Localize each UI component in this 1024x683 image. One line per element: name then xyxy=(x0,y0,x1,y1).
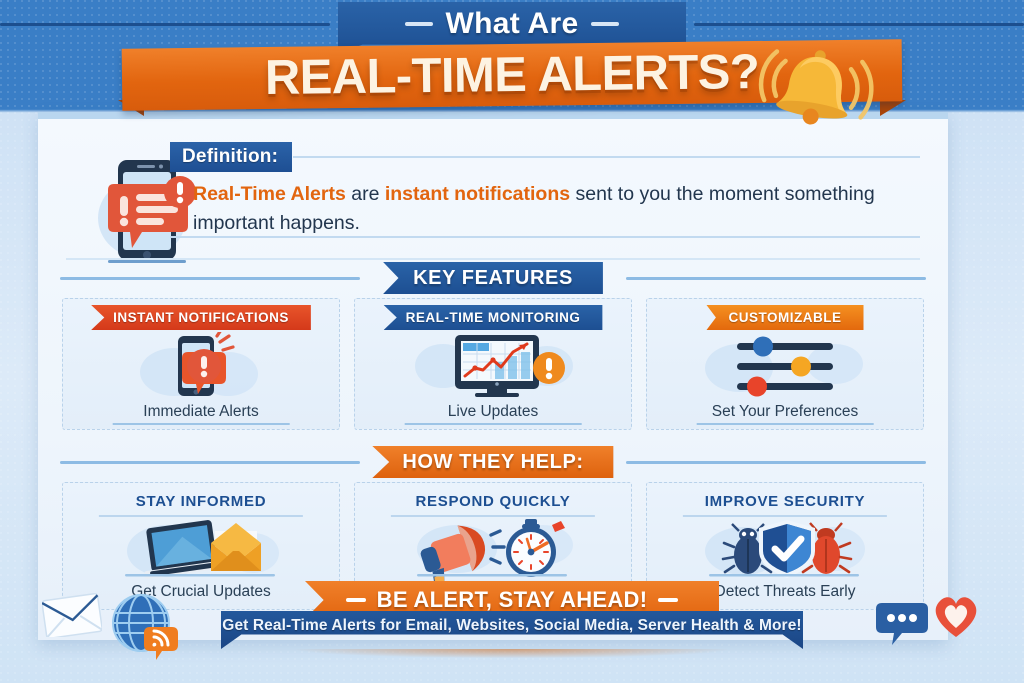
monitor-chart-alert-illustration xyxy=(355,331,631,401)
help-card-title: RESPOND QUICKLY xyxy=(355,493,631,510)
key-features-ribbon: KEY FEATURES xyxy=(383,262,603,294)
content-panel: Definition: Real-Time Alerts are instant… xyxy=(38,112,948,640)
card-ribbon-label: INSTANT NOTIFICATIONS xyxy=(113,310,289,325)
key-features-label: KEY FEATURES xyxy=(413,267,573,290)
header-rule-left xyxy=(0,23,330,26)
dash-left-icon xyxy=(405,22,433,26)
card-ribbon: REAL-TIME MONITORING xyxy=(384,305,603,330)
key-feature-card-customizable[interactable]: CUSTOMIZABLE Set Your Preferen xyxy=(646,298,924,430)
definition-mid-1: are xyxy=(346,183,385,205)
definition-highlight-2: instant notifications xyxy=(385,183,570,205)
help-card-title: STAY INFORMED xyxy=(63,493,339,510)
help-card-title: IMPROVE SECURITY xyxy=(647,493,923,510)
help-card-underline xyxy=(683,515,887,517)
footer: BE ALERT, STAY AHEAD! Get Real-Time Aler… xyxy=(0,573,1024,683)
heart-icon xyxy=(930,591,982,639)
key-features-rule-right xyxy=(626,277,926,280)
help-card-underline xyxy=(99,515,303,517)
key-feature-card-instant-notifications[interactable]: INSTANT NOTIFICATIONS xyxy=(62,298,340,430)
cta-dash-right-icon xyxy=(658,598,678,602)
key-features-rule-left xyxy=(60,277,360,280)
card-ribbon: CUSTOMIZABLE xyxy=(707,305,864,330)
header-rule-right xyxy=(694,23,1024,26)
card-ribbon-label: REAL-TIME MONITORING xyxy=(406,310,581,325)
footer-subtitle-text: Get Real-Time Alerts for Email, Websites… xyxy=(222,617,801,635)
how-they-help-heading: HOW THEY HELP: xyxy=(38,446,948,478)
definition-rule-top xyxy=(293,156,920,158)
footer-ribbon-shadow xyxy=(297,649,727,658)
card-caption: Immediate Alerts xyxy=(63,403,339,421)
card-ground-line xyxy=(697,423,874,425)
how-they-help-rule-left xyxy=(60,461,360,464)
key-feature-card-real-time-monitoring[interactable]: REAL-TIME MONITORING xyxy=(354,298,632,430)
definition-rule-bottom xyxy=(66,258,920,260)
card-ground-line xyxy=(405,423,582,425)
laptop-envelope-illustration xyxy=(63,519,339,581)
card-ribbon: INSTANT NOTIFICATIONS xyxy=(91,305,311,330)
settings-sliders-illustration xyxy=(647,331,923,401)
definition-tab-label: Definition: xyxy=(182,146,278,168)
how-they-help-ribbon: HOW THEY HELP: xyxy=(372,446,613,478)
envelope-icon xyxy=(42,593,102,637)
card-ribbon-label: CUSTOMIZABLE xyxy=(729,310,842,325)
key-features-heading: KEY FEATURES xyxy=(38,262,948,294)
footer-subtitle-ribbon: Get Real-Time Alerts for Email, Websites… xyxy=(221,611,803,649)
definition-text: Real-Time Alerts are instant notificatio… xyxy=(193,180,908,238)
header-eyebrow-text: What Are xyxy=(446,7,579,41)
megaphone-stopwatch-illustration xyxy=(355,519,631,581)
card-caption: Live Updates xyxy=(355,403,631,421)
bell-icon xyxy=(750,31,883,141)
help-card-underline xyxy=(391,515,595,517)
header: What Are REAL-TIME ALERTS? xyxy=(0,0,1024,120)
page-title: REAL-TIME ALERTS? xyxy=(265,44,760,106)
footer-cta-text: BE ALERT, STAY AHEAD! xyxy=(377,587,648,613)
infographic-poster: What Are REAL-TIME ALERTS? xyxy=(0,0,1024,683)
shield-bugs-illustration xyxy=(647,519,923,581)
how-they-help-label: HOW THEY HELP: xyxy=(402,451,583,474)
globe-rss-icon xyxy=(108,589,180,661)
definition-tab: Definition: xyxy=(170,142,292,172)
card-caption: Set Your Preferences xyxy=(647,403,923,421)
cta-dash-left-icon xyxy=(346,598,366,602)
definition-highlight-1: Real-Time Alerts xyxy=(193,183,346,205)
chat-bubble-icon xyxy=(876,601,932,647)
phone-notification-illustration xyxy=(96,156,206,271)
key-features-cards: INSTANT NOTIFICATIONS xyxy=(62,298,924,430)
ribbon-tail-right xyxy=(880,100,906,116)
dash-right-icon xyxy=(591,22,619,26)
definition-section: Definition: Real-Time Alerts are instant… xyxy=(38,134,948,264)
card-ground-line xyxy=(113,423,290,425)
phone-alert-illustration xyxy=(63,331,339,401)
how-they-help-rule-right xyxy=(626,461,926,464)
